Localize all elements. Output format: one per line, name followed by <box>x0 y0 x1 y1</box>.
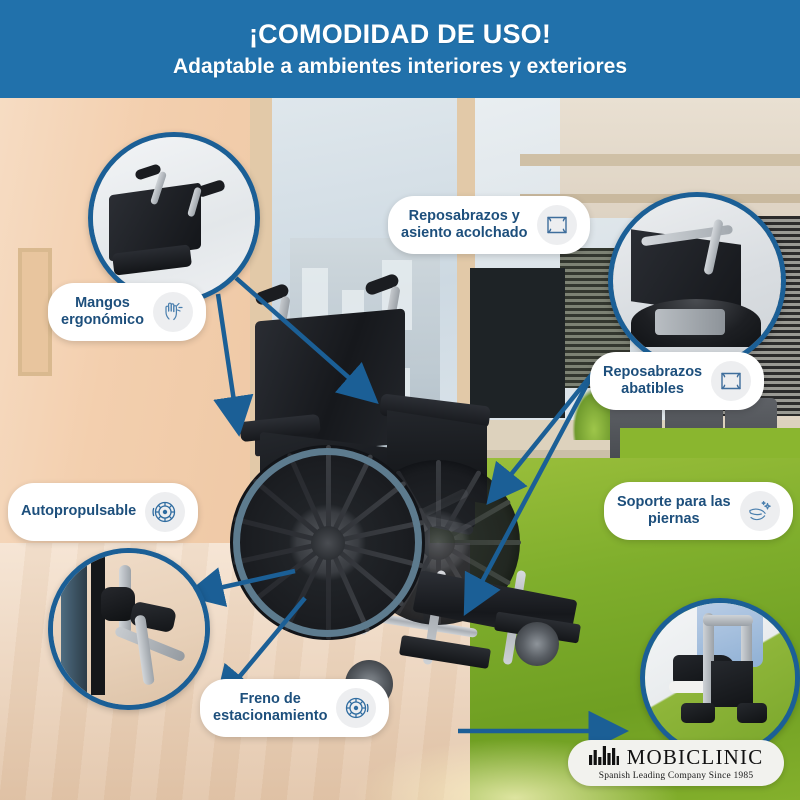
brand-logo: MOBICLINIC Spanish Leading Company Since… <box>568 740 784 786</box>
cushion-icon <box>711 361 751 401</box>
callout-autopropulsable-text: Autopropulsable <box>21 503 136 520</box>
header-title: ¡COMODIDAD DE USO! <box>249 20 551 48</box>
wheelchair-product <box>215 270 635 740</box>
inset-b-content <box>613 197 781 365</box>
infographic-canvas: ¡COMODIDAD DE USO! Adaptable a ambientes… <box>0 0 800 800</box>
callout-soporte-piernas[interactable]: Soporte para laspiernas <box>604 482 793 540</box>
hand-icon <box>153 292 193 332</box>
front-caster-right <box>515 622 559 666</box>
bars-logo-icon <box>589 746 619 770</box>
header-subtitle: Adaptable a ambientes interiores y exter… <box>173 56 627 78</box>
inset-folded-armrest <box>608 192 786 370</box>
callout-freno-text: Freno deestacionamiento <box>213 691 327 725</box>
leg-icon <box>740 491 780 531</box>
callout-reposabrazos-asiento[interactable]: Reposabrazos yasiento acolchado <box>388 196 590 254</box>
logo-tagline: Spanish Leading Company Since 1985 <box>599 771 754 781</box>
callout-autopropulsable[interactable]: Autopropulsable <box>8 483 198 541</box>
pergola-beam-1 <box>520 154 800 166</box>
callout-reposabrazos-abatibles[interactable]: Reposabrazosabatibles <box>590 352 764 410</box>
inset-a-content <box>93 137 255 299</box>
callout-reposabrazos-abatibles-text: Reposabrazosabatibles <box>603 364 702 398</box>
callout-mangos-text: Mangosergonómico <box>61 295 144 329</box>
callout-soporte-piernas-text: Soporte para laspiernas <box>617 494 731 528</box>
inset-c-content <box>53 553 205 705</box>
inset-parking-brake <box>48 548 210 710</box>
wheel-icon <box>145 492 185 532</box>
brake-wheel-icon <box>336 688 376 728</box>
inset-d-content <box>645 603 795 753</box>
wall-picture <box>18 248 52 376</box>
footplate-left <box>399 635 491 669</box>
callout-mangos-ergonomico[interactable]: Mangosergonómico <box>48 283 206 341</box>
inset-backrest-handles <box>88 132 260 304</box>
cushion-icon <box>537 205 577 245</box>
rear-wheel-left <box>230 445 425 640</box>
header-banner: ¡COMODIDAD DE USO! Adaptable a ambientes… <box>0 0 800 98</box>
logo-name: MOBICLINIC <box>627 745 764 770</box>
inset-footrest-foot <box>640 598 800 758</box>
callout-freno-estacionamiento[interactable]: Freno deestacionamiento <box>200 679 389 737</box>
callout-reposabrazos-asiento-text: Reposabrazos yasiento acolchado <box>401 208 528 242</box>
